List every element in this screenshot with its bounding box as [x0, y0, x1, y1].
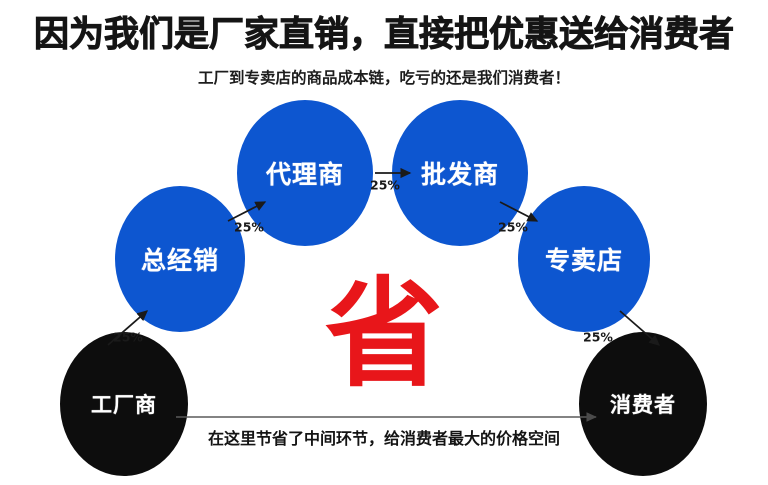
bottom-caption: 在这里节省了中间环节，给消费者最大的价格空间	[0, 428, 768, 450]
node-label-consumer: 消费者	[610, 389, 676, 419]
percent-label-factory-distributor: 25%	[113, 330, 143, 345]
percent-label-shop-consumer: 25%	[583, 330, 613, 345]
percent-label-wholesaler-shop: 25%	[498, 220, 528, 235]
promo-banner: 因为我们是厂家直销，直接把优惠送给消费者 工厂到专卖店的商品成本链，吃亏的还是我…	[0, 0, 768, 485]
savings-character: 省	[325, 275, 443, 393]
node-label-factory: 工厂商	[91, 389, 157, 419]
node-label-wholesaler: 批发商	[421, 155, 499, 191]
percent-label-agent-wholesaler: 25%	[370, 178, 400, 193]
percent-label-distributor-agent: 25%	[234, 220, 264, 235]
node-label-distributor: 总经销	[141, 241, 219, 277]
node-label-shop: 专卖店	[545, 241, 623, 277]
node-label-agent: 代理商	[266, 155, 344, 191]
